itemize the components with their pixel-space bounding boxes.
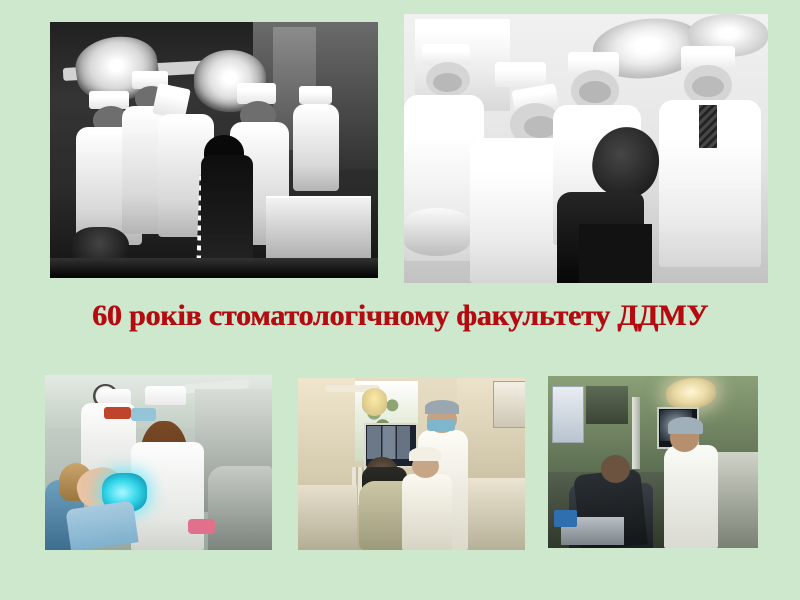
dental-lamp-icon xyxy=(362,388,387,416)
photo-historic-clinic xyxy=(50,22,378,278)
photo-historic-doctors xyxy=(404,14,768,283)
photo-modern-xray xyxy=(298,378,525,550)
presentation-slide: 60 років стоматологічному факультету ДДМ… xyxy=(0,0,800,600)
slide-title: 60 років стоматологічному факультету ДДМ… xyxy=(0,296,800,336)
photo-modern-child xyxy=(45,375,272,550)
photo-modern-green xyxy=(548,376,758,548)
